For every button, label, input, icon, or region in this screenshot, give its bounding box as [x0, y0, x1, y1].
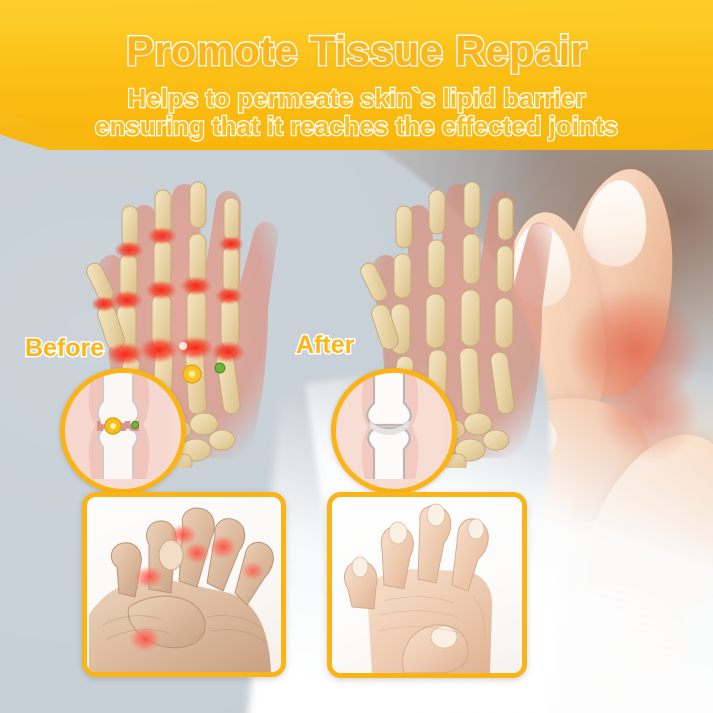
promo-banner-image: Promote Tissue Repair Helps to permeate … — [0, 0, 713, 713]
healthy-hand-photo — [327, 492, 527, 678]
label-before: Before — [25, 334, 104, 363]
label-after: After — [296, 331, 354, 360]
arthritic-hands-photo — [82, 492, 286, 677]
joint-diagram-inflamed — [60, 368, 186, 494]
joint-diagram-healthy — [331, 368, 457, 494]
subtitle-line-2: ensuring that it reaches the effected jo… — [0, 112, 713, 140]
subtitle-line-1: Helps to permeate skin`s lipid barrier — [0, 84, 713, 112]
page-title: Promote Tissue Repair — [0, 30, 713, 72]
banner-text-block: Promote Tissue Repair Helps to permeate … — [0, 0, 713, 140]
